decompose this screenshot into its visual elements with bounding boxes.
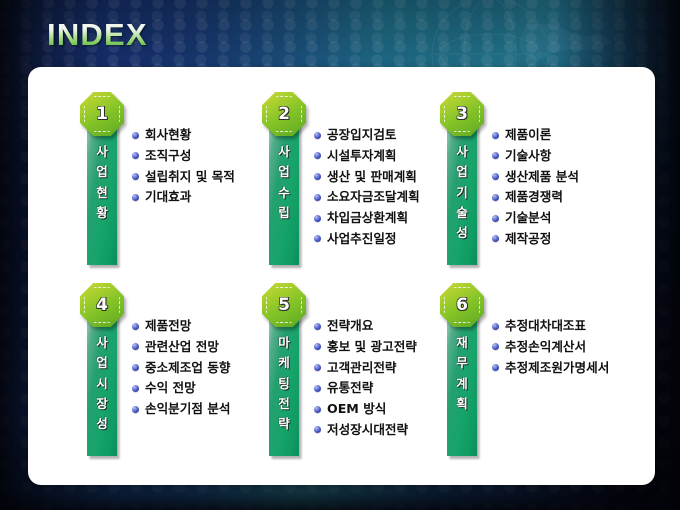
section-vertical-char: 사 xyxy=(278,142,290,162)
section-vertical-char: 성 xyxy=(456,223,468,243)
section-vertical-char: 전 xyxy=(278,394,290,414)
section-vertical-label-3: 사업기술성 xyxy=(456,142,468,243)
bullet-icon xyxy=(314,215,321,222)
section-number-badge-2[interactable]: 2 xyxy=(262,92,306,136)
list-item[interactable]: 소요자금조달계획 xyxy=(314,188,420,206)
section-number-badge-6[interactable]: 6 xyxy=(440,283,484,327)
section-item-list-3: 제품이론기술사항생산제품 분석제품경쟁력기술분석제작공정 xyxy=(492,126,579,251)
bullet-icon xyxy=(132,194,139,201)
list-item[interactable]: 고객관리전략 xyxy=(314,359,417,377)
section-vertical-label-6: 재무계획 xyxy=(456,333,468,414)
section-item-list-2: 공장입지검토시설투자계획생산 및 판매계획소요자금조달계획차입금상환계획사업추진… xyxy=(314,126,420,251)
bullet-icon xyxy=(492,194,499,201)
list-item-label: 제작공정 xyxy=(505,230,551,248)
list-item[interactable]: 기술사항 xyxy=(492,147,579,165)
list-item[interactable]: 손익분기점 분석 xyxy=(132,400,231,418)
list-item-label: 추정대차대조표 xyxy=(505,317,586,335)
list-item[interactable]: 제품이론 xyxy=(492,126,579,144)
section-vertical-bar-3: 사업기술성 xyxy=(447,122,477,265)
section-vertical-char: 성 xyxy=(96,414,108,434)
list-item[interactable]: 중소제조업 동향 xyxy=(132,359,231,377)
list-item-label: 조직구성 xyxy=(145,147,191,165)
bullet-icon xyxy=(132,385,139,392)
section-vertical-char: 업 xyxy=(278,162,290,182)
list-item-label: 기술사항 xyxy=(505,147,551,165)
list-item[interactable]: 추정손익계산서 xyxy=(492,338,609,356)
section-vertical-char: 술 xyxy=(456,203,468,223)
bullet-icon xyxy=(132,406,139,413)
bullet-icon xyxy=(492,173,499,180)
section-vertical-label-2: 사업수립 xyxy=(278,142,290,223)
bullet-icon xyxy=(132,152,139,159)
list-item-label: 홍보 및 광고전략 xyxy=(327,338,417,356)
bullet-icon xyxy=(314,343,321,350)
section-vertical-char: 사 xyxy=(96,333,108,353)
section-number-label: 1 xyxy=(80,92,124,136)
list-item-label: 고객관리전략 xyxy=(327,359,397,377)
list-item[interactable]: 기대효과 xyxy=(132,188,235,206)
section-number-badge-4[interactable]: 4 xyxy=(80,283,124,327)
bullet-icon xyxy=(314,152,321,159)
section-vertical-char: 마 xyxy=(278,333,290,353)
list-item-label: 소요자금조달계획 xyxy=(327,188,420,206)
list-item[interactable]: 추정대차대조표 xyxy=(492,317,609,335)
section-vertical-char: 무 xyxy=(456,353,468,373)
index-card-panel: 사업현황1회사현황조직구성설립취지 및 목적기대효과사업수립2공장입지검토시설투… xyxy=(28,67,655,485)
list-item-label: 관련산업 전망 xyxy=(145,338,219,356)
list-item[interactable]: 기술분석 xyxy=(492,209,579,227)
list-item-label: 제품이론 xyxy=(505,126,551,144)
section-item-list-5: 전략개요홍보 및 광고전략고객관리전략유통전략OEM 방식저성장시대전략 xyxy=(314,317,417,442)
list-item-label: OEM 방식 xyxy=(327,400,386,418)
bullet-icon xyxy=(314,426,321,433)
list-item[interactable]: 제작공정 xyxy=(492,230,579,248)
list-item[interactable]: 조직구성 xyxy=(132,147,235,165)
list-item[interactable]: 전략개요 xyxy=(314,317,417,335)
list-item-label: 저성장시대전략 xyxy=(327,421,408,439)
section-item-list-1: 회사현황조직구성설립취지 및 목적기대효과 xyxy=(132,126,235,209)
list-item[interactable]: 시설투자계획 xyxy=(314,147,420,165)
section-vertical-char: 업 xyxy=(456,162,468,182)
bullet-icon xyxy=(314,235,321,242)
section-vertical-bar-4: 사업시장성 xyxy=(87,313,117,456)
section-vertical-char: 계 xyxy=(456,374,468,394)
bullet-icon xyxy=(132,343,139,350)
list-item-label: 기술분석 xyxy=(505,209,551,227)
list-item[interactable]: 공장입지검토 xyxy=(314,126,420,144)
section-item-list-4: 제품전망관련산업 전망중소제조업 동향수익 전망손익분기점 분석 xyxy=(132,317,231,421)
list-item[interactable]: 설립취지 및 목적 xyxy=(132,168,235,186)
section-number-label: 6 xyxy=(440,283,484,327)
section-vertical-label-5: 마케팅전략 xyxy=(278,333,290,434)
bullet-icon xyxy=(314,406,321,413)
list-item-label: 차입금상환계획 xyxy=(327,209,408,227)
list-item[interactable]: 추정제조원가명세서 xyxy=(492,359,609,377)
bullet-icon xyxy=(492,323,499,330)
bullet-icon xyxy=(314,364,321,371)
section-vertical-char: 기 xyxy=(456,183,468,203)
section-vertical-char: 획 xyxy=(456,394,468,414)
section-vertical-bar-1: 사업현황 xyxy=(87,122,117,265)
list-item-label: 시설투자계획 xyxy=(327,147,397,165)
list-item-label: 수익 전망 xyxy=(145,379,196,397)
section-number-label: 2 xyxy=(262,92,306,136)
section-number-badge-3[interactable]: 3 xyxy=(440,92,484,136)
index-sections-grid: 사업현황1회사현황조직구성설립취지 및 목적기대효과사업수립2공장입지검토시설투… xyxy=(28,67,655,485)
section-vertical-bar-5: 마케팅전략 xyxy=(269,313,299,456)
list-item-label: 중소제조업 동향 xyxy=(145,359,231,377)
list-item[interactable]: 저성장시대전략 xyxy=(314,421,417,439)
bullet-icon xyxy=(132,132,139,139)
section-number-label: 3 xyxy=(440,92,484,136)
section-item-list-6: 추정대차대조표추정손익계산서추정제조원가명세서 xyxy=(492,317,609,379)
bullet-icon xyxy=(132,364,139,371)
list-item-label: 추정제조원가명세서 xyxy=(505,359,609,377)
list-item-label: 생산 및 판매계획 xyxy=(327,168,417,186)
section-vertical-char: 케 xyxy=(278,353,290,373)
section-vertical-char: 수 xyxy=(278,183,290,203)
bullet-icon xyxy=(314,132,321,139)
list-item-label: 손익분기점 분석 xyxy=(145,400,231,418)
section-vertical-char: 시 xyxy=(96,374,108,394)
list-item-label: 회사현황 xyxy=(145,126,191,144)
list-item[interactable]: 제품경쟁력 xyxy=(492,188,579,206)
page-title: INDEX xyxy=(47,17,148,53)
section-vertical-char: 장 xyxy=(96,394,108,414)
list-item-label: 제품경쟁력 xyxy=(505,188,563,206)
list-item-label: 유통전략 xyxy=(327,379,373,397)
section-vertical-char: 사 xyxy=(456,142,468,162)
section-vertical-char: 팅 xyxy=(278,374,290,394)
list-item[interactable]: 차입금상환계획 xyxy=(314,209,420,227)
list-item-label: 설립취지 및 목적 xyxy=(145,168,235,186)
list-item[interactable]: 제품전망 xyxy=(132,317,231,335)
section-number-badge-1[interactable]: 1 xyxy=(80,92,124,136)
section-number-label: 4 xyxy=(80,283,124,327)
bullet-icon xyxy=(492,152,499,159)
section-vertical-char: 업 xyxy=(96,353,108,373)
list-item-label: 제품전망 xyxy=(145,317,191,335)
list-item[interactable]: 유통전략 xyxy=(314,379,417,397)
list-item-label: 추정손익계산서 xyxy=(505,338,586,356)
list-item[interactable]: 생산제품 분석 xyxy=(492,168,579,186)
bullet-icon xyxy=(492,132,499,139)
section-vertical-label-1: 사업현황 xyxy=(96,142,108,223)
bullet-icon xyxy=(314,385,321,392)
bullet-icon xyxy=(492,364,499,371)
list-item[interactable]: 회사현황 xyxy=(132,126,235,144)
bullet-icon xyxy=(132,173,139,180)
list-item-label: 기대효과 xyxy=(145,188,191,206)
section-number-label: 5 xyxy=(262,283,306,327)
bullet-icon xyxy=(132,323,139,330)
section-vertical-char: 사 xyxy=(96,142,108,162)
bullet-icon xyxy=(314,323,321,330)
list-item-label: 전략개요 xyxy=(327,317,373,335)
section-vertical-bar-6: 재무계획 xyxy=(447,313,477,456)
section-vertical-bar-2: 사업수립 xyxy=(269,122,299,265)
section-vertical-char: 재 xyxy=(456,333,468,353)
section-vertical-char: 업 xyxy=(96,162,108,182)
section-vertical-char: 립 xyxy=(278,203,290,223)
bullet-icon xyxy=(314,173,321,180)
list-item-label: 공장입지검토 xyxy=(327,126,397,144)
bullet-icon xyxy=(314,194,321,201)
section-vertical-char: 현 xyxy=(96,183,108,203)
section-vertical-char: 략 xyxy=(278,414,290,434)
list-item[interactable]: 홍보 및 광고전략 xyxy=(314,338,417,356)
list-item[interactable]: 수익 전망 xyxy=(132,379,231,397)
list-item[interactable]: 사업추진일정 xyxy=(314,230,420,248)
list-item-label: 사업추진일정 xyxy=(327,230,397,248)
list-item[interactable]: OEM 방식 xyxy=(314,400,417,418)
bullet-icon xyxy=(492,235,499,242)
list-item[interactable]: 관련산업 전망 xyxy=(132,338,231,356)
bullet-icon xyxy=(492,215,499,222)
section-vertical-label-4: 사업시장성 xyxy=(96,333,108,434)
section-vertical-char: 황 xyxy=(96,203,108,223)
section-number-badge-5[interactable]: 5 xyxy=(262,283,306,327)
bullet-icon xyxy=(492,343,499,350)
list-item[interactable]: 생산 및 판매계획 xyxy=(314,168,420,186)
list-item-label: 생산제품 분석 xyxy=(505,168,579,186)
